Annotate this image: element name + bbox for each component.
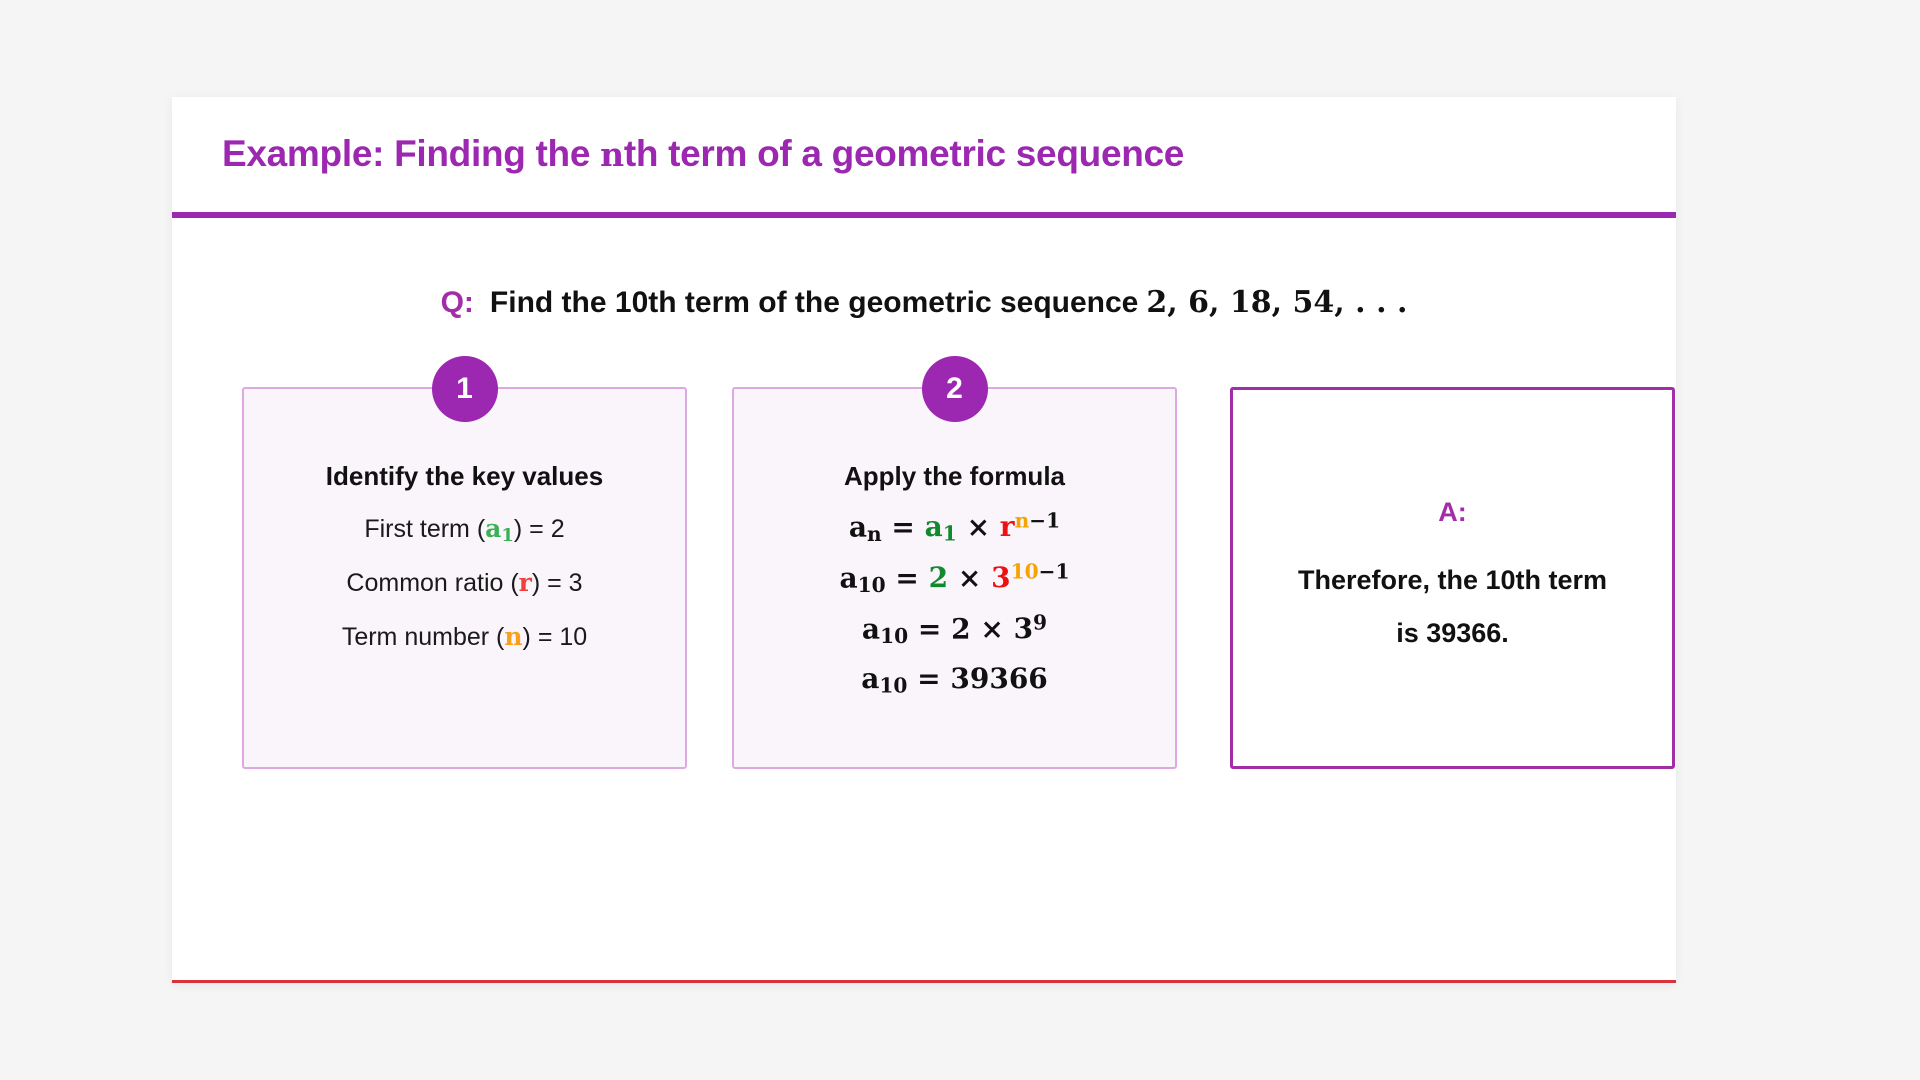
answer-inner: A: Therefore, the 10th term is 39366. xyxy=(1233,390,1672,766)
symbol-n: n xyxy=(504,622,522,651)
equation-row: an = a1 × rn−1 xyxy=(734,509,1175,546)
key-value-suffix: ) = xyxy=(523,623,560,651)
step-badge-1: 1 xyxy=(432,356,498,422)
symbol-r: r xyxy=(519,568,532,597)
equation-term1: 2 xyxy=(951,612,970,645)
step-heading-1: Identify the key values xyxy=(244,461,685,492)
step-card-2: 2 Apply the formula an = a1 × rn−1 a10 =… xyxy=(732,387,1177,769)
step-heading-2: Apply the formula xyxy=(734,461,1175,492)
equation-term1: a1 xyxy=(925,510,957,543)
answer-card: A: Therefore, the 10th term is 39366. xyxy=(1230,387,1675,769)
equation-times: × xyxy=(967,510,990,543)
equation-equals: = xyxy=(918,612,941,645)
steps-container: 1 Identify the key values First term (a1… xyxy=(172,97,1676,983)
equation-lhs-subscript: 10 xyxy=(858,573,886,597)
equation-lhs-subscript: n xyxy=(867,522,882,546)
key-value-row: Term number (n) = 10 xyxy=(244,622,685,654)
key-value-row: First term (a1) = 2 xyxy=(244,514,685,546)
key-value-number: 3 xyxy=(569,569,583,597)
equation-term1: 2 xyxy=(929,561,948,594)
equation-power: 310−1 xyxy=(991,561,1069,594)
equation-lhs-subscript: 10 xyxy=(879,673,907,697)
symbol-subscript: 1 xyxy=(501,525,514,546)
key-value-number: 10 xyxy=(559,623,587,651)
key-value-prefix: Common ratio ( xyxy=(346,569,518,597)
equation-row: a10 = 2 × 310−1 xyxy=(734,560,1175,597)
answer-label: A: xyxy=(1438,497,1467,528)
equation-term1-subscript: 1 xyxy=(943,522,957,546)
step-badge-2: 2 xyxy=(922,356,988,422)
key-value-suffix: ) = xyxy=(532,569,569,597)
equations-list: an = a1 × rn−1 a10 = 2 × 310−1 a10 = 2 ×… xyxy=(734,509,1175,711)
equation-result: 39366 xyxy=(950,662,1047,695)
equation-equals: = xyxy=(917,662,940,695)
equation-power: 39 xyxy=(1014,612,1048,645)
equation-base: 3 xyxy=(991,561,1010,594)
equation-times: × xyxy=(980,612,1003,645)
symbol-a1: a1 xyxy=(485,514,514,543)
key-value-number: 2 xyxy=(551,515,565,543)
slide-bottom-rule xyxy=(172,980,1676,983)
equation-row: a10 = 39366 xyxy=(734,662,1175,697)
key-value-row: Common ratio (r) = 3 xyxy=(244,568,685,600)
equation-lhs: a xyxy=(862,612,880,645)
key-value-suffix: ) = xyxy=(514,515,551,543)
slide-card: Example: Finding the nth term of a geome… xyxy=(172,97,1676,983)
equation-equals: = xyxy=(891,510,914,543)
equation-row: a10 = 2 × 39 xyxy=(734,611,1175,648)
key-values-list: First term (a1) = 2 Common ratio (r) = 3… xyxy=(244,514,685,676)
equation-lhs: a xyxy=(849,510,867,543)
equation-exponent: 10−1 xyxy=(1011,560,1070,584)
equation-base: r xyxy=(1000,510,1015,543)
equation-power: rn−1 xyxy=(1000,510,1060,543)
equation-lhs: a xyxy=(861,662,879,695)
equation-equals: = xyxy=(895,561,918,594)
equation-lhs: a xyxy=(839,561,857,594)
equation-exponent: 9 xyxy=(1033,611,1047,635)
equation-base: 3 xyxy=(1014,612,1033,645)
equation-times: × xyxy=(958,561,981,594)
step-card-1: 1 Identify the key values First term (a1… xyxy=(242,387,687,769)
equation-exponent: n−1 xyxy=(1015,509,1061,533)
equation-lhs-subscript: 10 xyxy=(880,624,908,648)
answer-text: Therefore, the 10th term is 39366. xyxy=(1288,554,1618,659)
key-value-prefix: Term number ( xyxy=(342,623,505,651)
key-value-prefix: First term ( xyxy=(364,515,485,543)
